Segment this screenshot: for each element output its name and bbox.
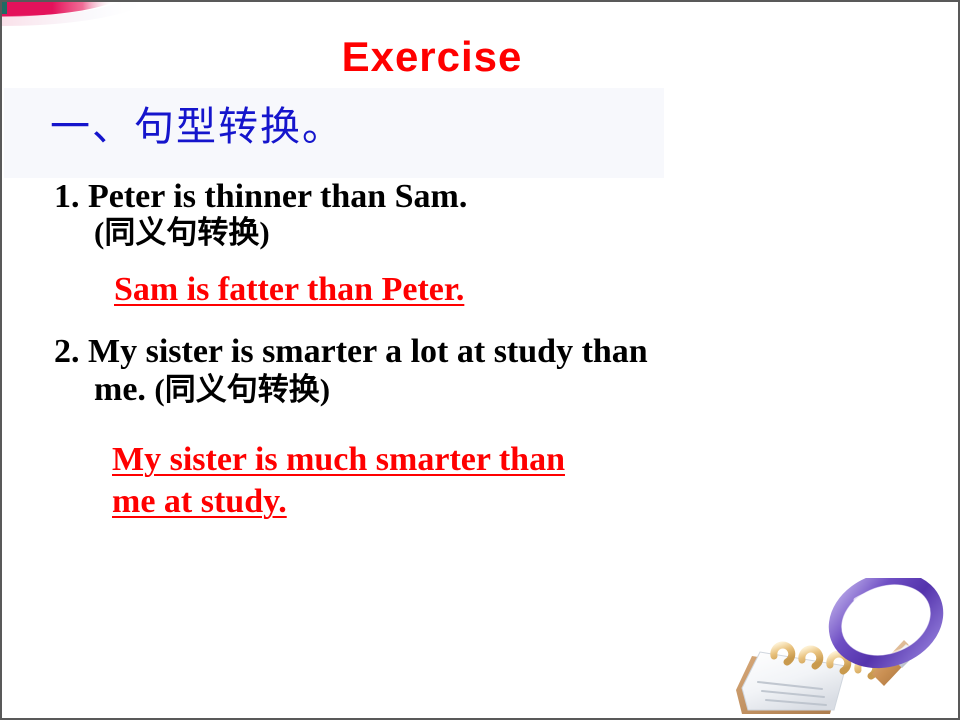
answer-2-line-2: me at study. [112,481,934,523]
question-2-instruction: (同义句转换) [154,372,330,407]
exercise-list: 1. Peter is thinner than Sam. (同义句转换) Sa… [54,178,934,527]
question-2-text: 2. My sister is smarter a lot at study t… [54,333,934,409]
answer-2-line-2-text: me at study. [112,483,287,520]
question-1-instruction: (同义句转换) [54,216,934,251]
question-2-prompt-line2: me. [94,371,146,408]
question-1-number: 1. [54,178,80,215]
answer-1: Sam is fatter than Peter. [54,269,934,311]
question-2-prompt-line1: My sister is smarter a lot at study than [88,333,648,370]
answer-2: My sister is much smarter than me at stu… [54,439,934,523]
slide-canvas: Exercise 一、句型转换。 1. Peter is thinner tha… [0,0,960,720]
answer-2-line-1-text: My sister is much smarter than [112,441,565,478]
page-title: Exercise [2,36,862,78]
answer-1-line: Sam is fatter than Peter. [114,271,464,308]
question-2-number: 2. [54,333,80,370]
teal-sliver-decoration [2,2,7,14]
magnifier-notebook-clipart [734,578,954,718]
question-2-prompt-line2-wrap: me. (同义句转换) [54,371,934,409]
exercise-item-2: 2. My sister is smarter a lot at study t… [54,333,934,523]
exercise-item-1: 1. Peter is thinner than Sam. (同义句转换) Sa… [54,178,934,311]
question-1-text: 1. Peter is thinner than Sam. (同义句转换) [54,178,934,251]
section-heading: 一、句型转换。 [50,106,344,148]
question-1-prompt: Peter is thinner than Sam. [88,178,467,215]
answer-2-line-1: My sister is much smarter than [112,439,934,481]
